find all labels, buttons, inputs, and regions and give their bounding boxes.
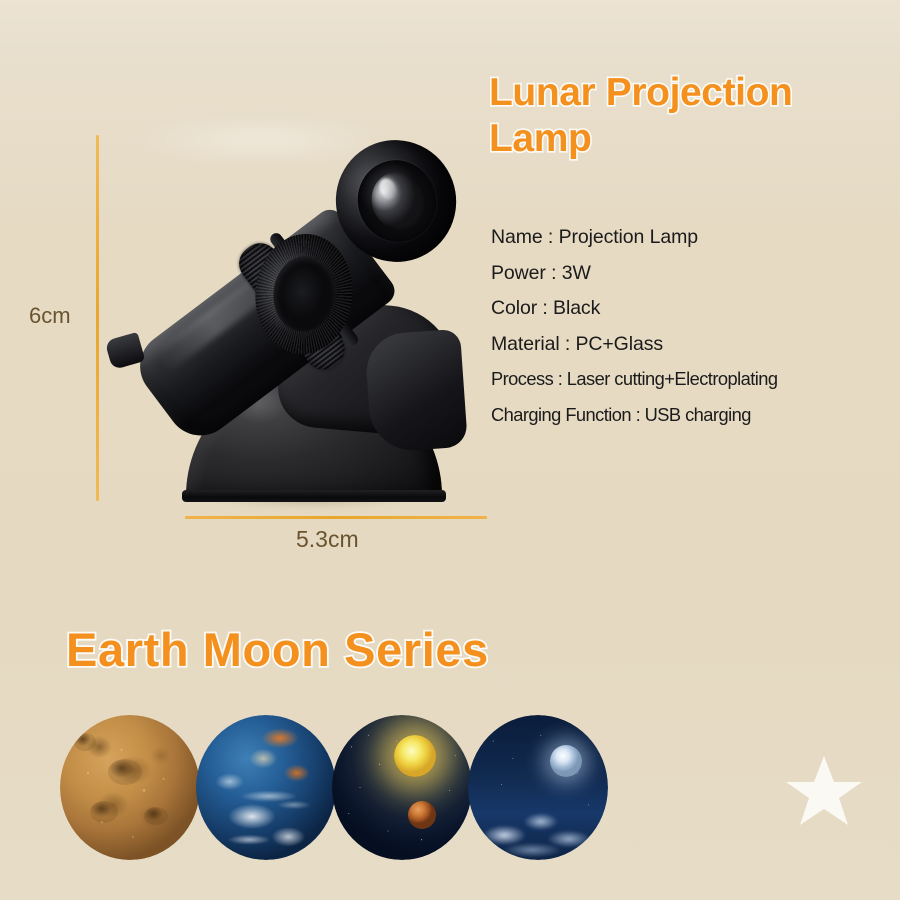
- star-icon: [786, 756, 862, 825]
- product-infographic: 6cm 5.3cm Lunar Projection Lamp Name : P…: [0, 0, 900, 900]
- star-field: [332, 715, 472, 860]
- earth-small: [352, 775, 402, 825]
- cloud-band: [468, 798, 608, 860]
- moon-highlights: [60, 715, 200, 860]
- projection-thumb-night-sky: [468, 715, 608, 860]
- mars-small: [408, 801, 436, 829]
- projection-thumb-moon: [60, 715, 200, 860]
- projection-thumb-crescent-star: [714, 706, 878, 870]
- earth-cloud-swirls: [196, 715, 336, 860]
- projection-thumb-solar-system: [332, 715, 472, 860]
- projection-thumb-earth: [196, 715, 336, 860]
- projection-thumbnail-row: [0, 0, 900, 900]
- moon-small: [550, 745, 582, 777]
- sun-icon: [394, 735, 436, 777]
